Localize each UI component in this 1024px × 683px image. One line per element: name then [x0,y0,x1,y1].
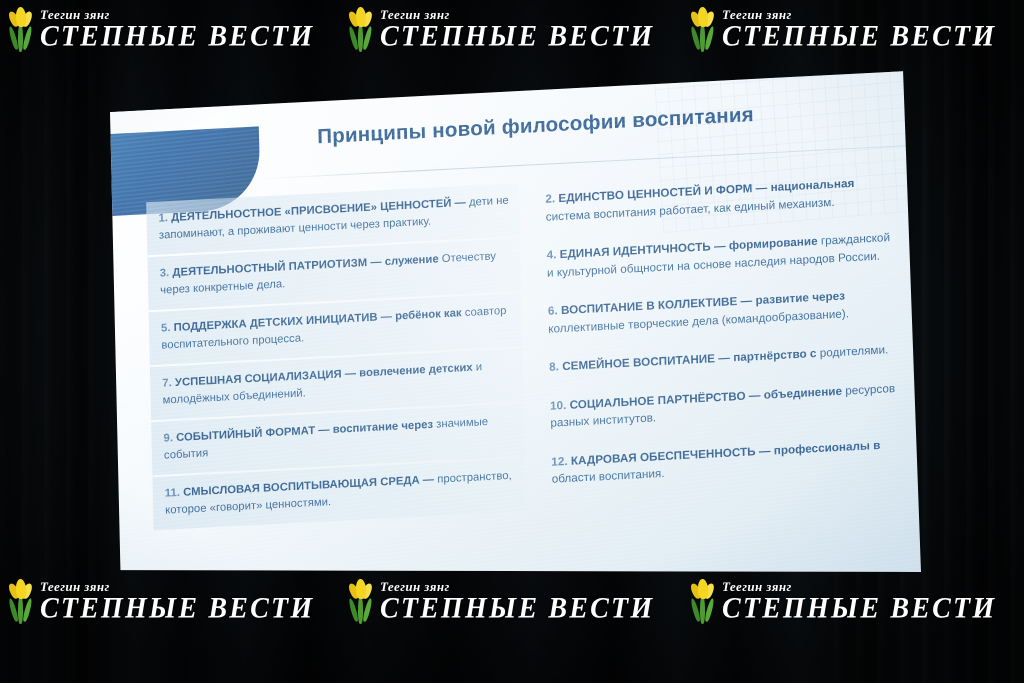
principles-column-right: 2. ЕДИНСТВО ЦЕННОСТЕЙ И ФОРМ — националь… [533,163,913,501]
presentation-slide: Принципы новой философии воспитания 1. Д… [110,69,959,624]
principle-number: 1. [158,212,168,224]
principle-number: 4. [546,248,556,262]
principle-number: 5. [161,322,171,334]
principle-heading: УСПЕШНАЯ СОЦИАЛИЗАЦИЯ — вовлечение детск… [175,362,473,389]
principles-columns: 1. ДЕЯТЕЛЬНОСТНОЕ «ПРИСВОЕНИЕ» ЦЕННОСТЕЙ… [112,161,959,616]
principle-heading: КАДРОВАЯ ОБЕСПЕЧЕННОСТЬ — профессионалы … [571,438,881,467]
principle-heading: ДЕЯТЕЛЬНОСТНЫЙ ПАТРИОТИЗМ — служение [172,253,438,279]
principle-number: 8. [549,360,559,374]
principle-heading: СЕМЕЙНОЕ ВОСПИТАНИЕ — партнёрство с [562,347,817,373]
principle-heading: ПОДДЕРЖКА ДЕТСКИХ ИНИЦИАТИВ — ребёнок ка… [174,307,462,334]
principle-number: 7. [162,377,172,389]
principle-body: родителями. [820,343,889,360]
principle-number: 6. [548,304,558,318]
principle-heading: СМЫСЛОВАЯ ВОСПИТЫВАЮЩАЯ СРЕДА — [183,474,434,499]
principles-column-left: 1. ДЕЯТЕЛЬНОСТНОЕ «ПРИСВОЕНИЕ» ЦЕННОСТЕЙ… [146,183,526,532]
principle-heading: СОЦИАЛЬНОЕ ПАРТНЁРСТВО — объединение [570,384,843,411]
principle-number: 2. [545,192,555,206]
curtain-folds-left [0,0,110,683]
principle-number: 3. [160,267,170,279]
principle-number: 9. [163,432,173,444]
principle-number: 10. [550,398,567,412]
principle-heading: СОБЫТИЙНЫЙ ФОРМАТ — воспитание через [176,419,433,444]
principle-body: области воспитания. [552,467,665,486]
principle-number: 11. [165,487,180,500]
principle-number: 12. [551,454,568,468]
